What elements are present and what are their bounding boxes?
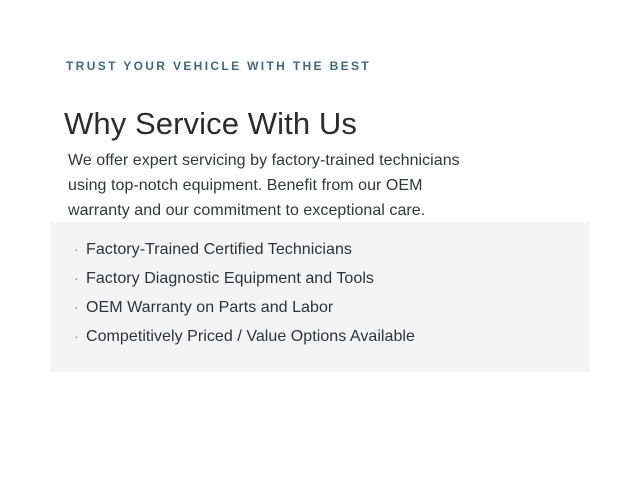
intro-line: using top-notch equipment. Benefit from … — [68, 173, 568, 198]
features-panel: · Factory-Trained Certified Technicians … — [50, 222, 590, 372]
list-item-label: Competitively Priced / Value Options Ava… — [86, 328, 415, 346]
list-item: · Factory Diagnostic Equipment and Tools — [74, 270, 415, 299]
bullet-dot-icon: · — [74, 242, 86, 256]
features-list: · Factory-Trained Certified Technicians … — [74, 241, 415, 357]
list-item-label: OEM Warranty on Parts and Labor — [86, 299, 333, 317]
intro-paragraph: We offer expert servicing by factory-tra… — [68, 148, 568, 223]
section-kicker: TRUST YOUR VEHICLE WITH THE BEST — [66, 58, 371, 74]
list-item-label: Factory Diagnostic Equipment and Tools — [86, 270, 374, 288]
bullet-dot-icon: · — [74, 271, 86, 285]
service-benefits-section: TRUST YOUR VEHICLE WITH THE BEST Why Ser… — [0, 0, 640, 480]
list-item: · Competitively Priced / Value Options A… — [74, 328, 415, 357]
bullet-dot-icon: · — [74, 300, 86, 314]
list-item: · OEM Warranty on Parts and Labor — [74, 299, 415, 328]
list-item-label: Factory-Trained Certified Technicians — [86, 241, 352, 259]
intro-line: warranty and our commitment to exception… — [68, 198, 568, 223]
page-title: Why Service With Us — [64, 105, 357, 143]
intro-line: We offer expert servicing by factory-tra… — [68, 148, 568, 173]
list-item: · Factory-Trained Certified Technicians — [74, 241, 415, 270]
bullet-dot-icon: · — [74, 329, 86, 343]
